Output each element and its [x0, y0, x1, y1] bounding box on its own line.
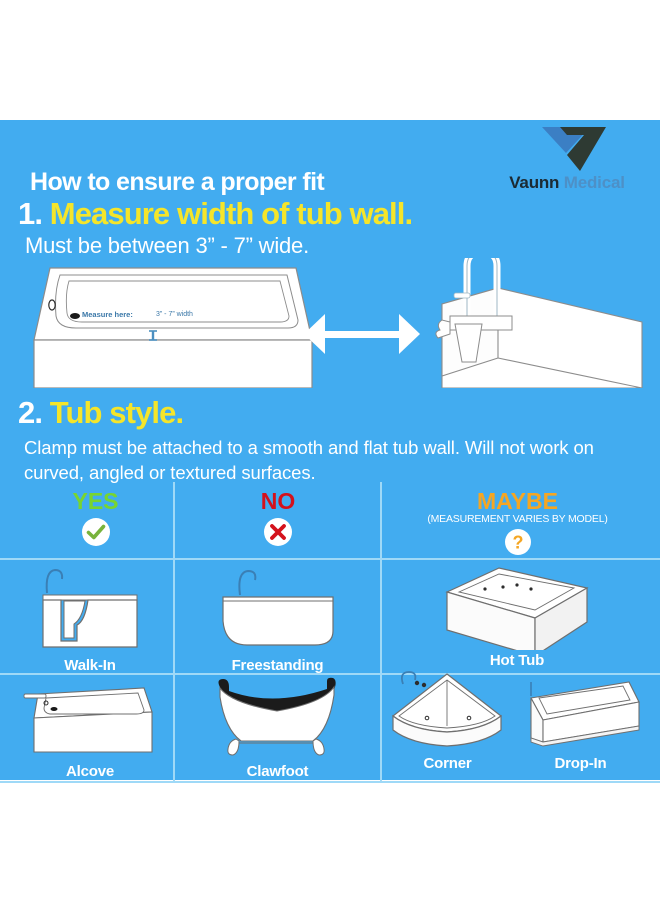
tub-cell-corner: Corner: [385, 668, 510, 772]
tub-label-alcove: Alcove: [10, 763, 170, 780]
clawfoot-tub-icon: [203, 671, 353, 761]
tub-cell-alcove: Alcove: [10, 676, 170, 780]
step-2-subtitle: Clamp must be attached to a smooth and f…: [24, 435, 636, 485]
tub-cell-clawfoot: Clawfoot: [185, 671, 370, 780]
vaunn-v-logo-icon: [540, 125, 608, 173]
tub-label-drop-in: Drop-In: [513, 755, 648, 772]
step-1-title: Measure width of tub wall.: [50, 196, 412, 231]
verdict-column-maybe: MAYBE (MEASUREMENT VARIES BY MODEL) ?: [385, 488, 650, 561]
verdict-label-no: NO: [183, 488, 373, 514]
step-1-heading: 1. Measure width of tub wall.: [18, 196, 412, 232]
measure-diagram-svg: [12, 258, 652, 388]
walk-in-tub-icon: [25, 565, 155, 655]
verdict-label-maybe: MAYBE: [385, 488, 650, 514]
measure-width-value: 3” - 7” width: [156, 311, 193, 318]
step-1-subtitle: Must be between 3” - 7” wide.: [25, 233, 309, 259]
verdict-column-yes: YES: [18, 488, 173, 552]
brand-name-primary: Vaunn: [509, 173, 559, 192]
hot-tub-icon: [437, 560, 597, 650]
separator-horizontal-bottom: [0, 781, 660, 783]
question-circle-icon: ?: [385, 528, 650, 561]
double-arrow-icon: [304, 314, 420, 354]
brand-logo: Vaunn Medical: [492, 125, 642, 203]
grab-bar-clamp-icon: [436, 258, 642, 388]
verdict-label-yes: YES: [18, 488, 173, 514]
measure-here-label: Measure here:: [82, 310, 133, 319]
x-circle-icon: [183, 517, 373, 552]
step-2-number: 2.: [18, 395, 42, 430]
tub-cell-freestanding: Freestanding: [185, 565, 370, 674]
tub-label-walk-in: Walk-In: [10, 657, 170, 674]
brand-name-secondary: Medical: [564, 173, 625, 192]
tub-label-hot-tub: Hot Tub: [392, 652, 642, 669]
brand-name: Vaunn Medical: [492, 173, 642, 193]
verdict-column-no: NO: [183, 488, 373, 552]
step-1-number: 1.: [18, 196, 42, 231]
tub-cell-drop-in: Drop-In: [513, 668, 648, 772]
corner-tub-icon: [387, 668, 509, 753]
svg-text:?: ?: [512, 533, 523, 553]
verdict-note-maybe: (MEASUREMENT VARIES BY MODEL): [385, 513, 650, 525]
step-2-heading: 2. Tub style.: [18, 395, 183, 431]
step-2-title: Tub style.: [50, 395, 183, 430]
tub-label-corner: Corner: [385, 755, 510, 772]
alcove-tub-icon: [20, 676, 160, 761]
separator-vertical-left: [173, 482, 175, 782]
blue-info-panel: Vaunn Medical How to ensure a proper fit…: [0, 120, 660, 780]
measure-diagram: Measure here: 3” - 7” width: [12, 258, 652, 388]
separator-vertical-right: [380, 482, 382, 782]
infographic-page: Vaunn Medical How to ensure a proper fit…: [0, 0, 660, 900]
freestanding-tub-icon: [203, 565, 353, 655]
check-circle-icon: [18, 517, 173, 552]
tub-cell-walk-in: Walk-In: [10, 565, 170, 674]
drop-in-tub-icon: [517, 668, 645, 753]
page-title: How to ensure a proper fit: [30, 168, 324, 197]
tub-label-clawfoot: Clawfoot: [185, 763, 370, 780]
tub-cell-hot-tub: Hot Tub: [392, 560, 642, 669]
tub-cutaway-icon: [34, 268, 312, 388]
